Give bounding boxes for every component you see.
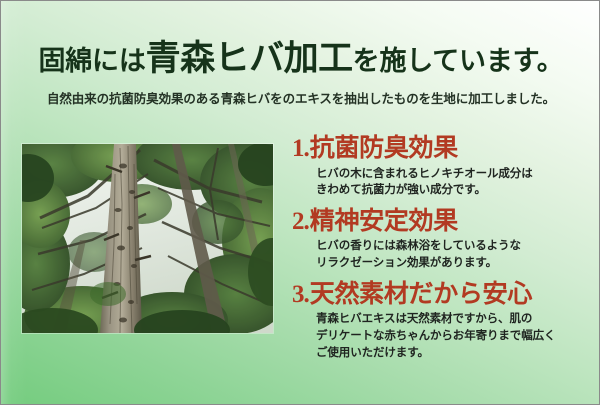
page-title: 固綿には青森ヒバ加工を施しています。 (1, 41, 600, 76)
feature-body-line: ヒバの香りには森林浴をしているような (316, 238, 592, 255)
feature-body-line: ご使用いただけます。 (316, 345, 592, 362)
feature-body: 青森ヒバエキスは天然素材ですから、肌の デリケートな赤ちゃんからお年寄りまで幅広… (292, 311, 592, 361)
hiba-tree-photo-illustration (22, 144, 273, 333)
feature-body-line: ヒバの木に含まれるヒノキチオール成分は (316, 166, 592, 183)
product-feature-banner: 固綿には青森ヒバ加工を施しています。 自然由来の抗菌防臭効果のある青森ヒバをのエ… (0, 0, 600, 405)
headline-tail: を施しています。 (353, 46, 564, 76)
feature-title-text: 精神安定効果 (310, 208, 458, 235)
feature-title-text: 天然素材だから安心 (310, 281, 532, 308)
feature-item: 2.精神安定効果 ヒバの香りには森林浴をしているような リラクゼーション効果があ… (292, 208, 592, 272)
feature-body-line: リラクゼーション効果があります。 (316, 255, 592, 272)
feature-title-text: 抗菌防臭効果 (310, 135, 458, 162)
feature-number: 3. (292, 281, 309, 308)
subtitle: 自然由来の抗菌防臭効果のある青森ヒバをのエキスを抽出したものを生地に加工しました… (1, 92, 600, 107)
hiba-tree-photo (22, 144, 273, 333)
feature-number: 2. (292, 208, 309, 235)
headline-lead: 固綿には (38, 46, 145, 76)
feature-number: 1. (292, 135, 309, 162)
feature-body-line: 青森ヒバエキスは天然素材ですから、肌の (316, 311, 592, 328)
feature-list: 1.抗菌防臭効果 ヒバの木に含まれるヒノキチオール成分は きわめて抗菌力が強い成… (292, 135, 592, 361)
feature-title: 1.抗菌防臭効果 (292, 135, 592, 163)
feature-title: 2.精神安定効果 (292, 208, 592, 236)
feature-item: 1.抗菌防臭効果 ヒバの木に含まれるヒノキチオール成分は きわめて抗菌力が強い成… (292, 135, 592, 199)
feature-body: ヒバの香りには森林浴をしているような リラクゼーション効果があります。 (292, 238, 592, 271)
feature-body-line: デリケートな赤ちゃんからお年寄りまで幅広く (316, 328, 592, 345)
feature-body-line: きわめて抗菌力が強い成分です。 (316, 182, 592, 199)
feature-item: 3.天然素材だから安心 青森ヒバエキスは天然素材ですから、肌の デリケートな赤ち… (292, 281, 592, 362)
feature-title: 3.天然素材だから安心 (292, 281, 592, 309)
headline-emphasis: 青森ヒバ加工 (146, 39, 353, 78)
feature-body: ヒバの木に含まれるヒノキチオール成分は きわめて抗菌力が強い成分です。 (292, 166, 592, 199)
